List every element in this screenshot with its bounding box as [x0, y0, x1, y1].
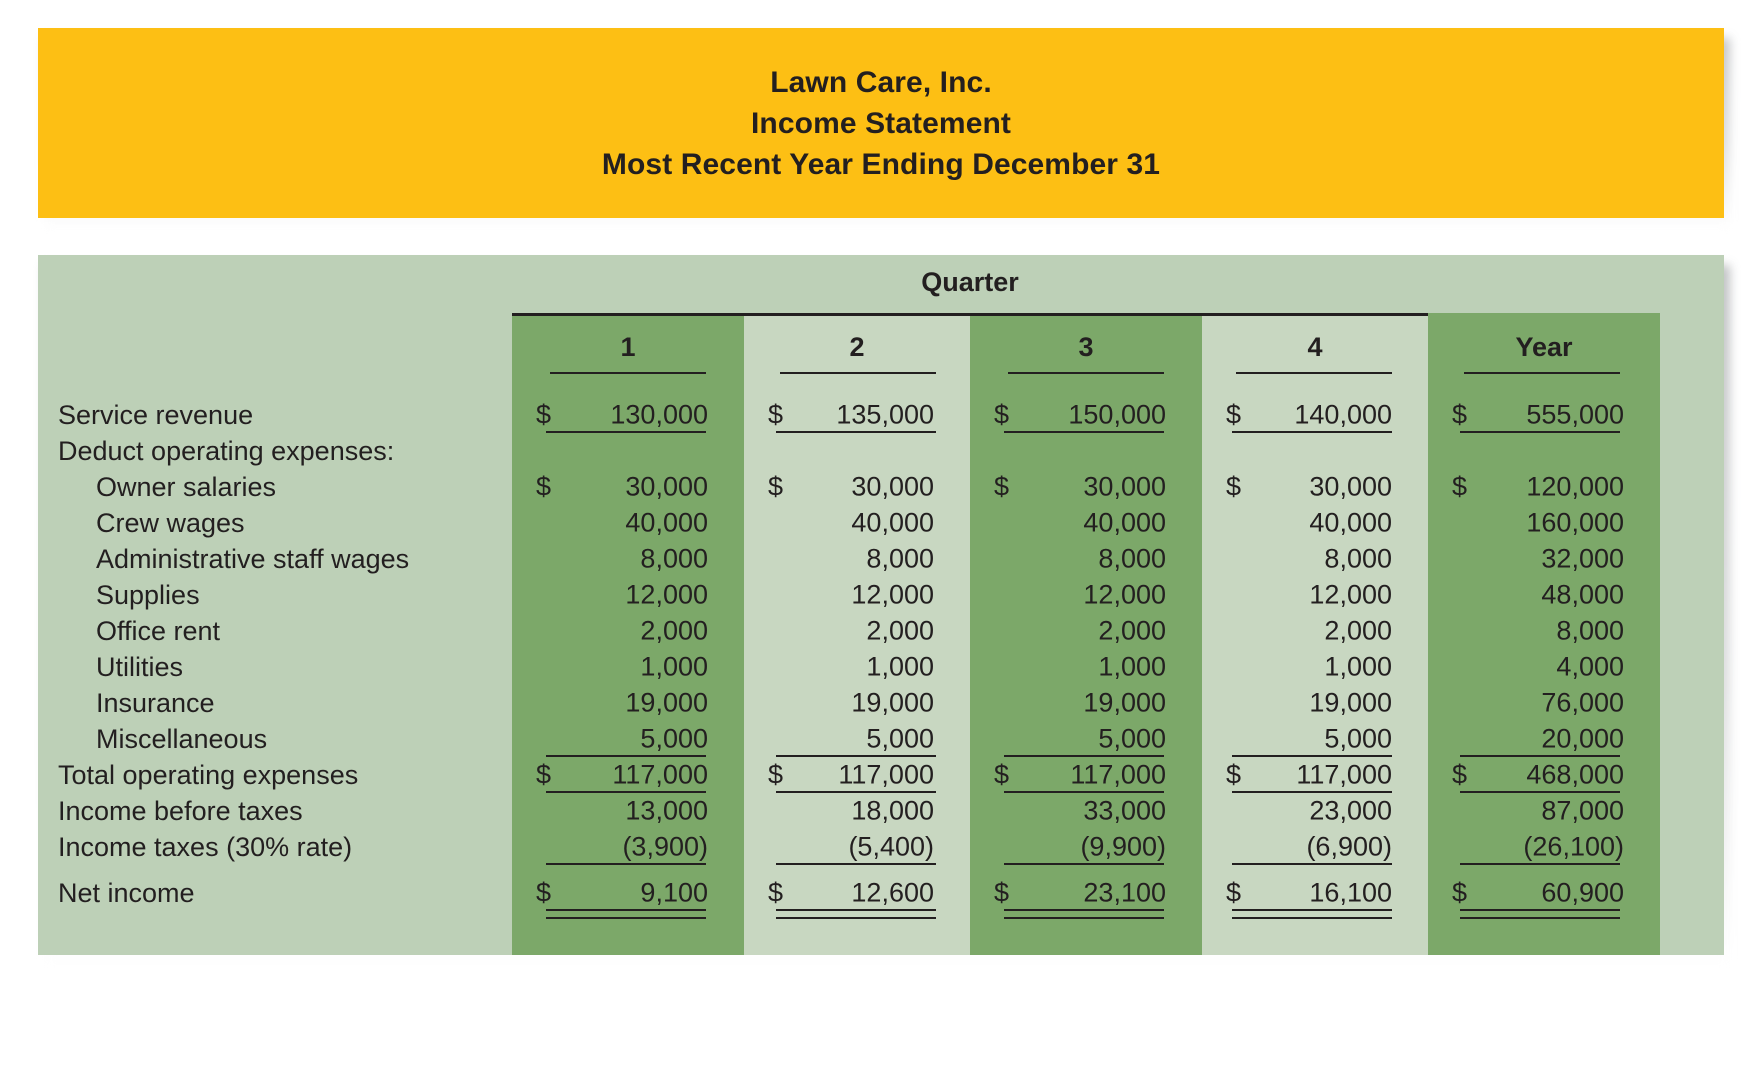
cell-value: (3,900) — [622, 832, 708, 863]
cell-value: 140,000 — [1294, 400, 1392, 431]
cell-value: 8,000 — [640, 544, 708, 575]
cell-q2: 5,000 — [744, 721, 970, 757]
statement-panel: Quarter 1 2 3 4 Year Service revenue$130… — [38, 255, 1724, 955]
column-header-rule-year — [1464, 372, 1620, 374]
total-double-rule-q3 — [1004, 909, 1164, 919]
cell-q1: (3,900) — [512, 829, 744, 865]
cell-value: 30,000 — [851, 472, 934, 503]
cell-q1: 2,000 — [512, 613, 744, 649]
currency-symbol: $ — [994, 878, 1009, 909]
cell-q3: 8,000 — [970, 541, 1202, 577]
cell-year: 48,000 — [1428, 577, 1660, 613]
row-label: Crew wages — [96, 505, 245, 541]
column-header-rule-q1 — [550, 372, 706, 374]
cell-value: 130,000 — [610, 400, 708, 431]
cell-value: 40,000 — [625, 508, 708, 539]
currency-symbol: $ — [536, 472, 551, 503]
cell-q2: $117,000 — [744, 757, 970, 793]
quarter-group-rule — [512, 313, 1428, 316]
total-double-rule-q2 — [776, 909, 936, 919]
cell-q4: 19,000 — [1202, 685, 1428, 721]
column-header-q1: 1 — [512, 321, 744, 373]
cell-year: $120,000 — [1428, 469, 1660, 505]
subtotal-rule-year — [1460, 863, 1620, 865]
currency-symbol: $ — [1452, 400, 1467, 431]
cell-q3: 40,000 — [970, 505, 1202, 541]
cell-q4: 8,000 — [1202, 541, 1428, 577]
cell-value: 33,000 — [1083, 796, 1166, 827]
total-double-rule-q4 — [1232, 909, 1392, 919]
currency-symbol: $ — [994, 760, 1009, 791]
table-row: Insurance19,00019,00019,00019,00076,000 — [38, 685, 1724, 721]
row-label: Service revenue — [58, 397, 253, 433]
title-banner-wrapper: Lawn Care, Inc. Income Statement Most Re… — [38, 28, 1724, 218]
cell-value: 8,000 — [1556, 616, 1624, 647]
cell-value: 135,000 — [836, 400, 934, 431]
cell-value: 20,000 — [1541, 724, 1624, 755]
cell-q1: $117,000 — [512, 757, 744, 793]
cell-q2: (5,400) — [744, 829, 970, 865]
cell-q2: 12,000 — [744, 577, 970, 613]
currency-symbol: $ — [536, 760, 551, 791]
cell-value: 12,600 — [851, 878, 934, 909]
table-row: Crew wages40,00040,00040,00040,000160,00… — [38, 505, 1724, 541]
cell-value: 19,000 — [1309, 688, 1392, 719]
statement-grid: Quarter 1 2 3 4 Year Service revenue$130… — [38, 255, 1724, 955]
cell-value: 8,000 — [1098, 544, 1166, 575]
currency-symbol: $ — [768, 760, 783, 791]
cell-q1: 1,000 — [512, 649, 744, 685]
currency-symbol: $ — [768, 400, 783, 431]
statement-type: Income Statement — [751, 103, 1011, 144]
table-row: Miscellaneous5,0005,0005,0005,00020,000 — [38, 721, 1724, 757]
cell-q1: 12,000 — [512, 577, 744, 613]
currency-symbol: $ — [1226, 472, 1241, 503]
cell-value: 12,000 — [1083, 580, 1166, 611]
statement-period: Most Recent Year Ending December 31 — [602, 144, 1160, 185]
cell-value: 150,000 — [1068, 400, 1166, 431]
cell-value: 23,100 — [1083, 878, 1166, 909]
table-row: Income taxes (30% rate)(3,900)(5,400)(9,… — [38, 829, 1724, 865]
row-label: Total operating expenses — [58, 757, 358, 793]
currency-symbol: $ — [994, 400, 1009, 431]
cell-q3: 5,000 — [970, 721, 1202, 757]
cell-q3: 12,000 — [970, 577, 1202, 613]
cell-year: 20,000 — [1428, 721, 1660, 757]
cell-value: 19,000 — [625, 688, 708, 719]
cell-value: 30,000 — [625, 472, 708, 503]
cell-value: 9,100 — [640, 878, 708, 909]
cell-q3: $30,000 — [970, 469, 1202, 505]
cell-value: 5,000 — [866, 724, 934, 755]
cell-value: 5,000 — [640, 724, 708, 755]
currency-symbol: $ — [1226, 878, 1241, 909]
cell-year: $555,000 — [1428, 397, 1660, 433]
cell-value: 2,000 — [866, 616, 934, 647]
cell-value: 1,000 — [640, 652, 708, 683]
cell-value: 16,100 — [1309, 878, 1392, 909]
cell-q2: $30,000 — [744, 469, 970, 505]
cell-q1: 19,000 — [512, 685, 744, 721]
currency-symbol: $ — [768, 472, 783, 503]
cell-value: 30,000 — [1083, 472, 1166, 503]
cell-year: (26,100) — [1428, 829, 1660, 865]
table-row: Deduct operating expenses: — [38, 433, 1724, 469]
title-banner: Lawn Care, Inc. Income Statement Most Re… — [38, 28, 1724, 218]
cell-q4: 2,000 — [1202, 613, 1428, 649]
total-double-rule-year — [1460, 909, 1620, 919]
row-label: Office rent — [96, 613, 220, 649]
row-label: Net income — [58, 875, 195, 911]
cell-q2: 40,000 — [744, 505, 970, 541]
column-header-rule-q2 — [780, 372, 936, 374]
cell-q3: $23,100 — [970, 875, 1202, 911]
cell-q3: $117,000 — [970, 757, 1202, 793]
subtotal-rule-q2 — [776, 863, 936, 865]
currency-symbol: $ — [1226, 760, 1241, 791]
cell-year: 8,000 — [1428, 613, 1660, 649]
currency-symbol: $ — [536, 878, 551, 909]
table-row: Office rent2,0002,0002,0002,0008,000 — [38, 613, 1724, 649]
cell-q4: 1,000 — [1202, 649, 1428, 685]
cell-value: 12,000 — [625, 580, 708, 611]
row-label: Miscellaneous — [96, 721, 267, 757]
cell-value: 18,000 — [851, 796, 934, 827]
cell-year: 4,000 — [1428, 649, 1660, 685]
cell-value: 4,000 — [1556, 652, 1624, 683]
cell-value: (26,100) — [1523, 832, 1624, 863]
cell-value: 117,000 — [1296, 760, 1392, 791]
cell-value: 8,000 — [866, 544, 934, 575]
currency-symbol: $ — [994, 472, 1009, 503]
cell-value: (9,900) — [1080, 832, 1166, 863]
cell-year: $60,900 — [1428, 875, 1660, 911]
column-header-rule-q4 — [1236, 372, 1392, 374]
cell-q4: 5,000 — [1202, 721, 1428, 757]
row-label: Supplies — [96, 577, 200, 613]
cell-value: 2,000 — [1098, 616, 1166, 647]
cell-q1: $130,000 — [512, 397, 744, 433]
column-header-q2: 2 — [744, 321, 970, 373]
cell-year: 87,000 — [1428, 793, 1660, 829]
subtotal-rule-q3 — [1004, 863, 1164, 865]
row-label: Utilities — [96, 649, 183, 685]
cell-q1: 8,000 — [512, 541, 744, 577]
income-statement-figure: Lawn Care, Inc. Income Statement Most Re… — [0, 0, 1759, 1090]
cell-q4: 23,000 — [1202, 793, 1428, 829]
cell-q4: $16,100 — [1202, 875, 1428, 911]
cell-q4: 40,000 — [1202, 505, 1428, 541]
cell-q1: 40,000 — [512, 505, 744, 541]
cell-q4: $140,000 — [1202, 397, 1428, 433]
cell-value: 40,000 — [851, 508, 934, 539]
cell-q1: 5,000 — [512, 721, 744, 757]
row-label: Income taxes (30% rate) — [58, 829, 352, 865]
cell-q4: 12,000 — [1202, 577, 1428, 613]
table-row: Income before taxes13,00018,00033,00023,… — [38, 793, 1724, 829]
cell-value: (6,900) — [1306, 832, 1392, 863]
cell-q1: 13,000 — [512, 793, 744, 829]
cell-q2: 2,000 — [744, 613, 970, 649]
cell-q2: 19,000 — [744, 685, 970, 721]
cell-value: 60,900 — [1541, 878, 1624, 909]
subtotal-rule-q1 — [546, 863, 706, 865]
cell-value: 5,000 — [1098, 724, 1166, 755]
cell-value: 117,000 — [838, 760, 934, 791]
currency-symbol: $ — [1226, 400, 1241, 431]
cell-value: 30,000 — [1309, 472, 1392, 503]
currency-symbol: $ — [1452, 760, 1467, 791]
cell-value: 32,000 — [1541, 544, 1624, 575]
cell-q1: $9,100 — [512, 875, 744, 911]
cell-value: 160,000 — [1526, 508, 1624, 539]
cell-q4: (6,900) — [1202, 829, 1428, 865]
cell-value: 23,000 — [1309, 796, 1392, 827]
cell-q3: 33,000 — [970, 793, 1202, 829]
cell-value: 1,000 — [1324, 652, 1392, 683]
cell-value: 8,000 — [1324, 544, 1392, 575]
cell-value: 76,000 — [1541, 688, 1624, 719]
company-name: Lawn Care, Inc. — [770, 62, 992, 103]
cell-value: 5,000 — [1324, 724, 1392, 755]
cell-value: 120,000 — [1526, 472, 1624, 503]
cell-year: 32,000 — [1428, 541, 1660, 577]
quarter-group-header: Quarter — [512, 267, 1428, 298]
table-row: Owner salaries$30,000$30,000$30,000$30,0… — [38, 469, 1724, 505]
currency-symbol: $ — [1452, 472, 1467, 503]
cell-year: 160,000 — [1428, 505, 1660, 541]
cell-value: 117,000 — [1070, 760, 1166, 791]
cell-value: 468,000 — [1526, 760, 1624, 791]
cell-value: 1,000 — [866, 652, 934, 683]
cell-value: 48,000 — [1541, 580, 1624, 611]
total-double-rule-q1 — [546, 909, 706, 919]
row-label: Owner salaries — [96, 469, 276, 505]
cell-q2: 8,000 — [744, 541, 970, 577]
currency-symbol: $ — [1452, 878, 1467, 909]
row-label: Administrative staff wages — [96, 541, 409, 577]
cell-value: 19,000 — [851, 688, 934, 719]
table-row: Administrative staff wages8,0008,0008,00… — [38, 541, 1724, 577]
currency-symbol: $ — [768, 878, 783, 909]
cell-q3: 19,000 — [970, 685, 1202, 721]
table-row: Service revenue$130,000$135,000$150,000$… — [38, 397, 1724, 433]
cell-value: 2,000 — [640, 616, 708, 647]
cell-year: $468,000 — [1428, 757, 1660, 793]
cell-value: 87,000 — [1541, 796, 1624, 827]
cell-value: 40,000 — [1083, 508, 1166, 539]
subtotal-rule-q4 — [1232, 863, 1392, 865]
cell-q3: 2,000 — [970, 613, 1202, 649]
cell-q2: 18,000 — [744, 793, 970, 829]
cell-q3: 1,000 — [970, 649, 1202, 685]
cell-year: 76,000 — [1428, 685, 1660, 721]
column-header-q3: 3 — [970, 321, 1202, 373]
cell-value: 1,000 — [1098, 652, 1166, 683]
statement-panel-wrapper: Quarter 1 2 3 4 Year Service revenue$130… — [38, 255, 1724, 955]
column-header-year: Year — [1428, 321, 1660, 373]
cell-q2: $135,000 — [744, 397, 970, 433]
cell-value: 2,000 — [1324, 616, 1392, 647]
cell-value: 12,000 — [1309, 580, 1392, 611]
column-header-rule-q3 — [1008, 372, 1164, 374]
table-row: Total operating expenses$117,000$117,000… — [38, 757, 1724, 793]
cell-q4: $117,000 — [1202, 757, 1428, 793]
cell-q2: 1,000 — [744, 649, 970, 685]
row-label: Income before taxes — [58, 793, 303, 829]
cell-q4: $30,000 — [1202, 469, 1428, 505]
cell-q1: $30,000 — [512, 469, 744, 505]
currency-symbol: $ — [536, 400, 551, 431]
table-row: Supplies12,00012,00012,00012,00048,000 — [38, 577, 1724, 613]
row-label: Insurance — [96, 685, 215, 721]
column-header-q4: 4 — [1202, 321, 1428, 373]
cell-value: (5,400) — [848, 832, 934, 863]
table-row: Net income$9,100$12,600$23,100$16,100$60… — [38, 875, 1724, 911]
cell-value: 12,000 — [851, 580, 934, 611]
cell-q3: $150,000 — [970, 397, 1202, 433]
row-label: Deduct operating expenses: — [58, 433, 394, 469]
cell-value: 117,000 — [612, 760, 708, 791]
table-row: Utilities1,0001,0001,0001,0004,000 — [38, 649, 1724, 685]
cell-value: 555,000 — [1526, 400, 1624, 431]
cell-q3: (9,900) — [970, 829, 1202, 865]
cell-value: 13,000 — [625, 796, 708, 827]
cell-value: 19,000 — [1083, 688, 1166, 719]
cell-value: 40,000 — [1309, 508, 1392, 539]
cell-q2: $12,600 — [744, 875, 970, 911]
